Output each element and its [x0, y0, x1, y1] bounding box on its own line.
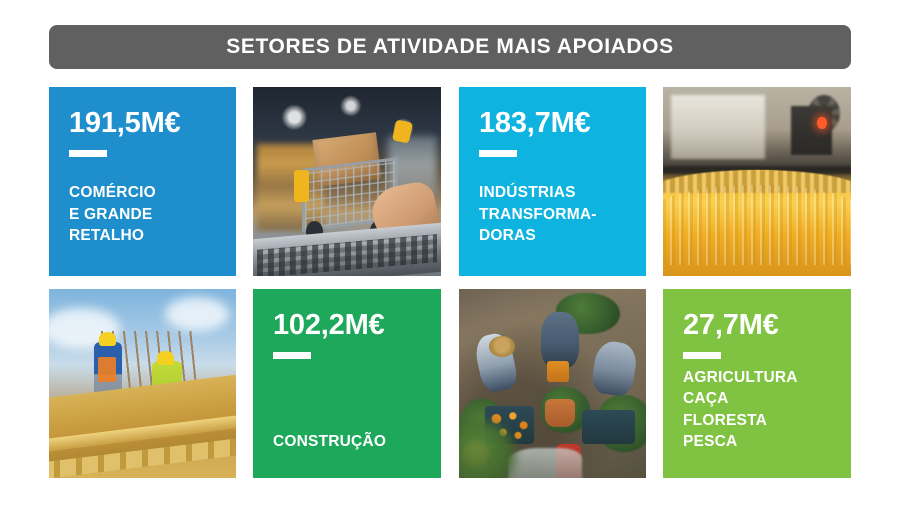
card-amount-agricultura: 27,7M€: [683, 311, 831, 340]
photo-industrias-transformadoras: [663, 87, 851, 276]
photo-plant-pot: [545, 399, 575, 427]
card-sector-agricultura: AGRICULTURA CAÇA FLORESTA PESCA: [683, 367, 831, 452]
card-comercio-retalho: 191,5M€ COMÉRCIO E GRANDE RETALHO: [49, 87, 236, 276]
page-title: SETORES DE ATIVIDADE MAIS APOIADOS: [226, 35, 673, 59]
image-shopping-cart-laptop: [253, 87, 441, 276]
card-agricultura-caca-floresta-pesca: 27,7M€ AGRICULTURA CAÇA FLORESTA PESCA: [663, 289, 851, 478]
amount-underline: [69, 150, 107, 157]
card-amount-industrias: 183,7M€: [479, 109, 626, 138]
card-panel-construcao: 102,2M€ CONSTRUÇÃO: [253, 289, 441, 478]
header-bar: SETORES DE ATIVIDADE MAIS APOIADOS: [49, 25, 851, 69]
photo-straw-hat: [489, 336, 515, 357]
card-amount-comercio: 191,5M€: [69, 109, 216, 138]
photo-agricultura: [459, 289, 646, 478]
image-bottling-conveyor: [663, 87, 851, 276]
card-industrias-transformadoras: 183,7M€ INDÚSTRIAS TRANSFORMA- DORAS: [459, 87, 646, 276]
card-sector-industrias: INDÚSTRIAS TRANSFORMA- DORAS: [479, 182, 626, 246]
photo-indicator-lamp: [817, 117, 826, 128]
image-construction-workers: [49, 289, 236, 478]
photo-hard-hat-right: [157, 351, 174, 364]
photo-machine: [671, 95, 765, 159]
photo-cart-front-bar: [294, 170, 309, 202]
photo-crate-right: [582, 410, 634, 444]
photo-comercio-retalho: [253, 87, 441, 276]
card-sector-construcao: CONSTRUÇÃO: [273, 431, 421, 452]
photo-farmer-center: [541, 312, 578, 369]
photo-tarp: [508, 448, 583, 478]
card-sector-comercio: COMÉRCIO E GRANDE RETALHO: [69, 182, 216, 246]
amount-underline: [479, 150, 517, 157]
photo-construcao: [49, 289, 236, 478]
photo-safety-vest: [98, 357, 117, 382]
card-panel-comercio: 191,5M€ COMÉRCIO E GRANDE RETALHO: [49, 87, 236, 276]
photo-control-panel: [791, 106, 832, 155]
card-panel-industrias: 183,7M€ INDÚSTRIAS TRANSFORMA- DORAS: [459, 87, 646, 276]
image-aerial-farmers: [459, 289, 646, 478]
photo-harvest-bucket: [547, 361, 569, 382]
card-panel-agricultura: 27,7M€ AGRICULTURA CAÇA FLORESTA PESCA: [663, 289, 851, 478]
card-construcao: 102,2M€ CONSTRUÇÃO: [253, 289, 441, 478]
amount-underline: [273, 352, 311, 359]
photo-cloud-right: [165, 297, 229, 331]
infographic-root: SETORES DE ATIVIDADE MAIS APOIADOS 191,5…: [0, 0, 900, 516]
amount-underline: [683, 352, 721, 359]
card-amount-construcao: 102,2M€: [273, 311, 421, 340]
photo-hard-hat-left: [99, 332, 116, 345]
photo-juice-bottles: [663, 185, 851, 264]
